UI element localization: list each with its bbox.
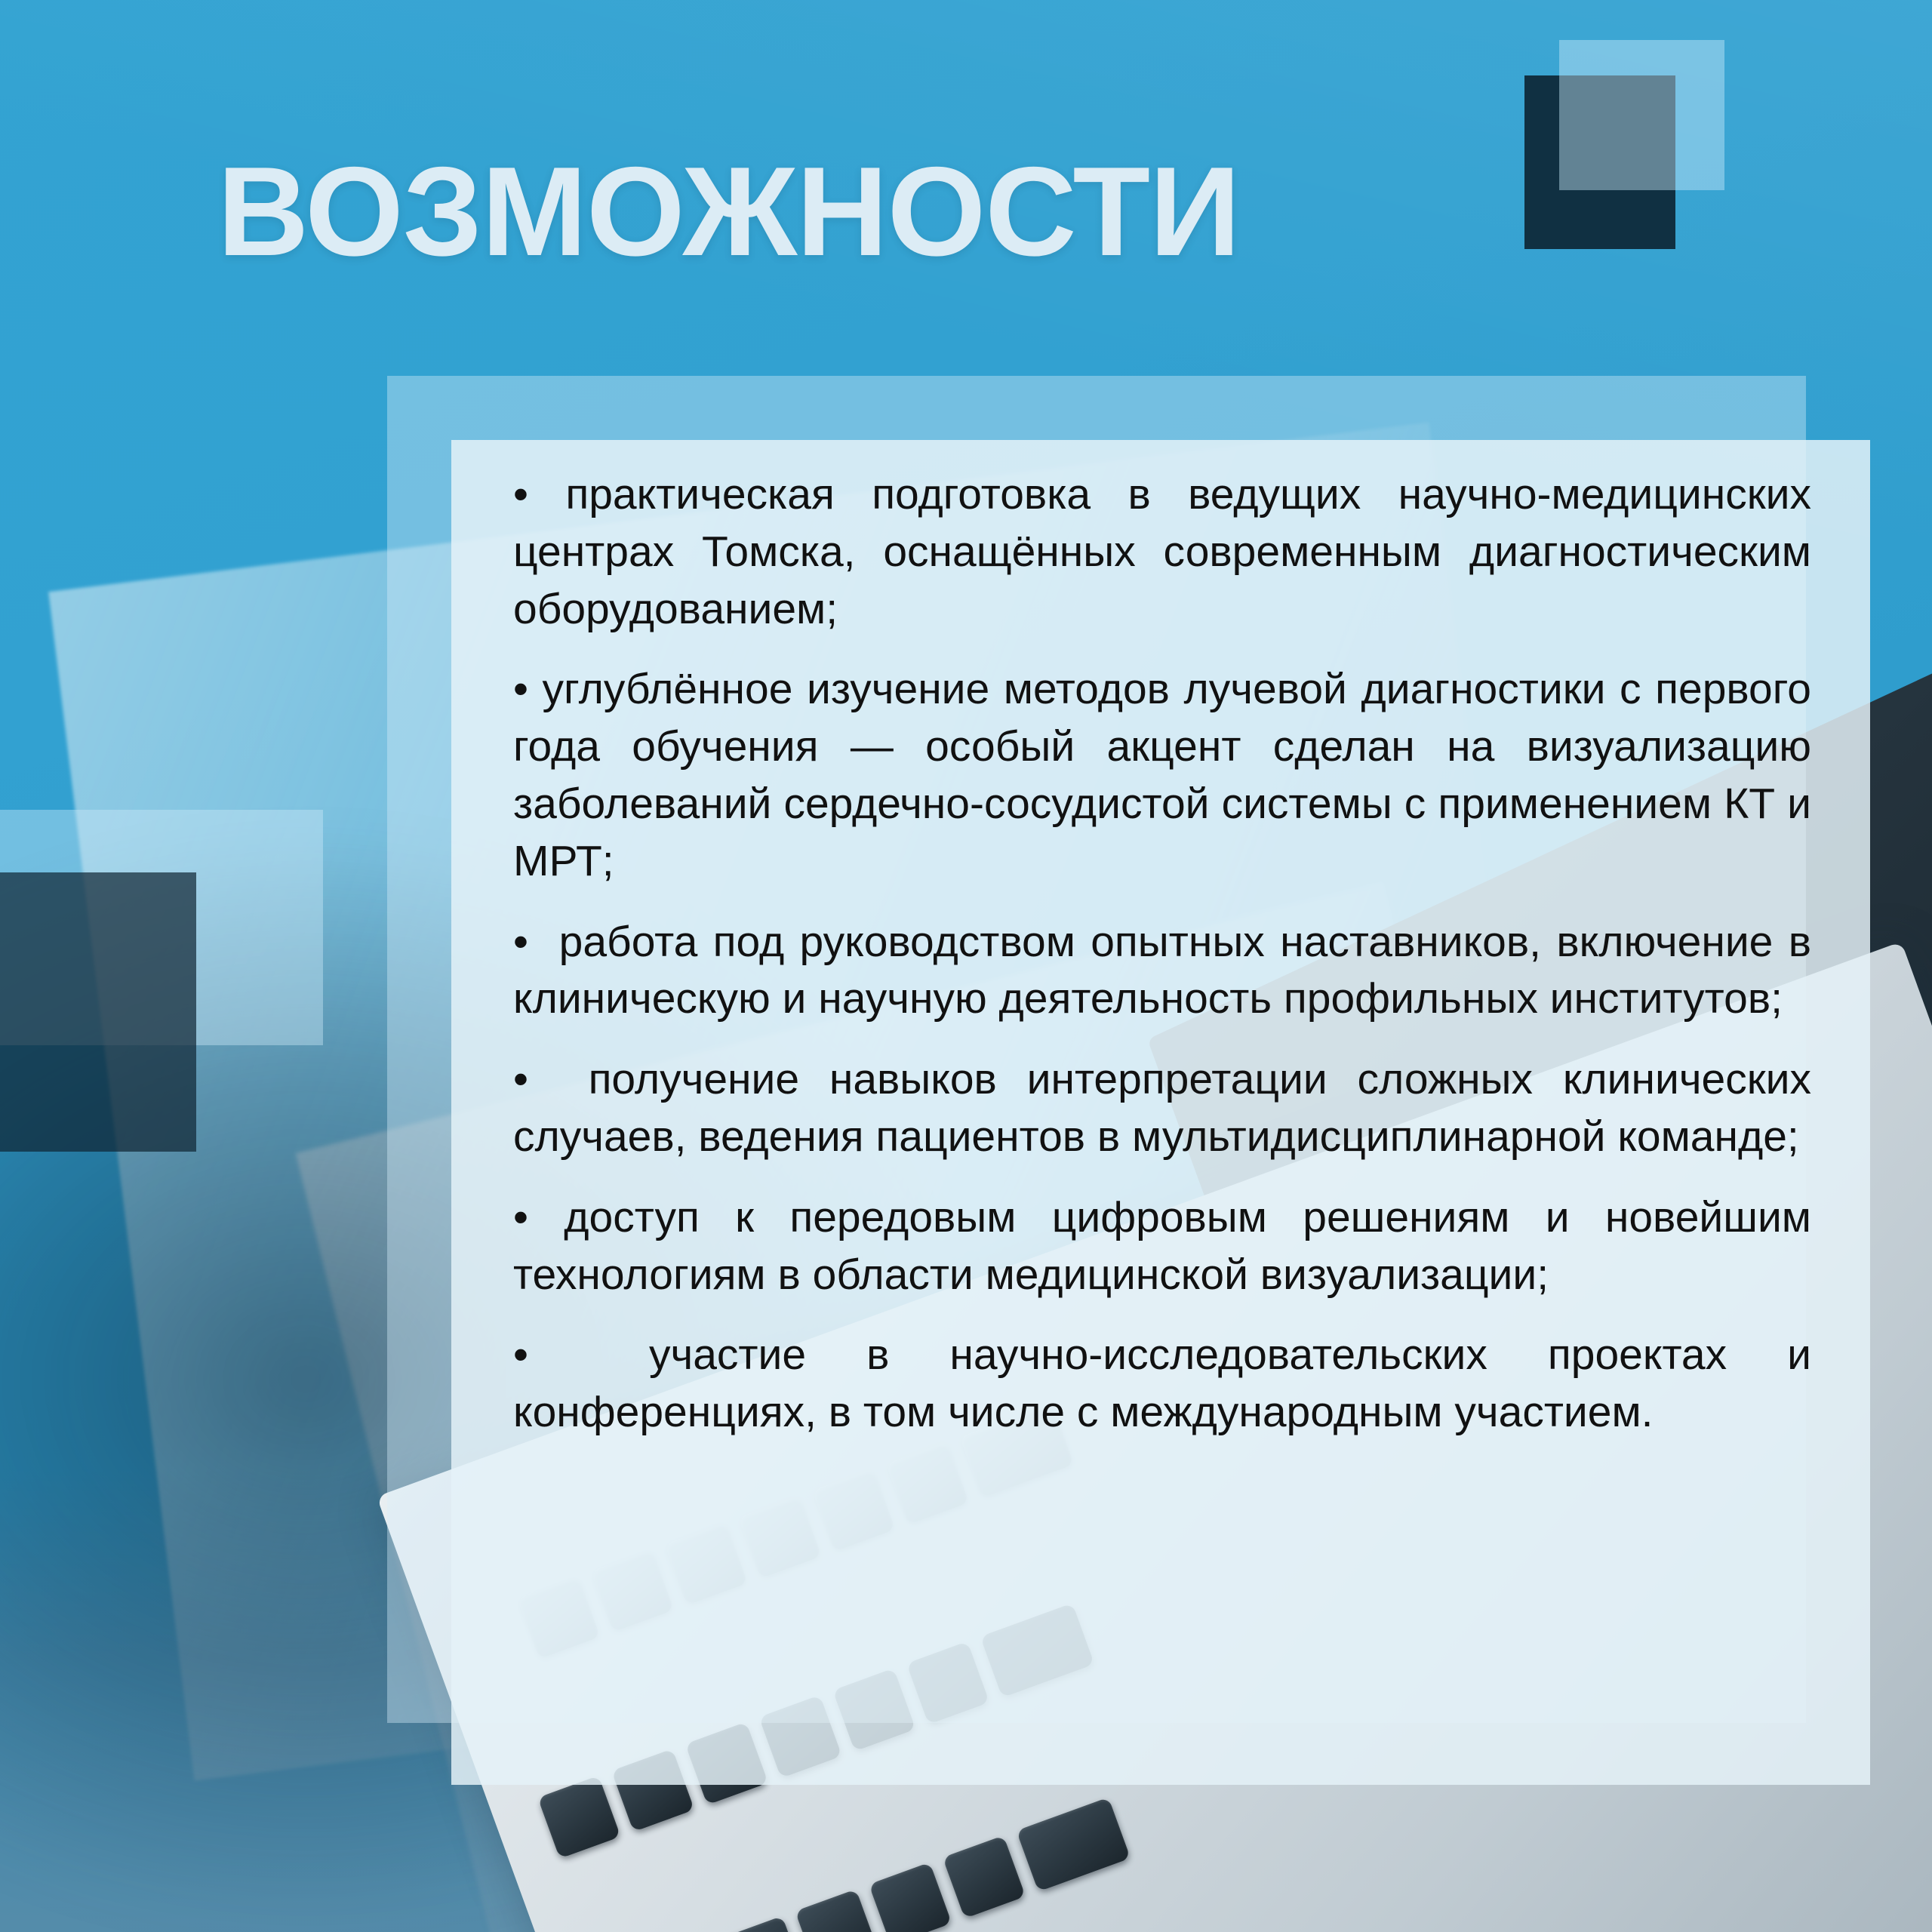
- page-title: ВОЗМОЖНОСТИ: [217, 148, 1240, 275]
- slide-canvas: ВОЗМОЖНОСТИ практическая подготовка в ве…: [0, 0, 1932, 1932]
- list-item: практическая подготовка в ведущих научно…: [513, 466, 1811, 638]
- keyboard-key: [721, 1916, 804, 1932]
- keyboard-key: [538, 1776, 621, 1859]
- list-item: участие в научно-исследовательских проек…: [513, 1327, 1811, 1441]
- keyboard-key: [869, 1863, 952, 1932]
- list-item: углублённое изучение методов лучевой диа…: [513, 661, 1811, 890]
- keyboard-key: [795, 1889, 878, 1932]
- list-item: доступ к передовым цифровым решениям и н…: [513, 1189, 1811, 1304]
- list-item: работа под руководством опытных наставни…: [513, 914, 1811, 1029]
- keyboard-key: [1017, 1797, 1131, 1891]
- list-item: получение навыков интерпретации сложных …: [513, 1051, 1811, 1166]
- opportunities-list: практическая подготовка в ведущих научно…: [513, 466, 1811, 1441]
- keyboard-key: [943, 1835, 1026, 1918]
- logo-light-square: [1559, 40, 1724, 190]
- left-dark-square: [0, 872, 196, 1152]
